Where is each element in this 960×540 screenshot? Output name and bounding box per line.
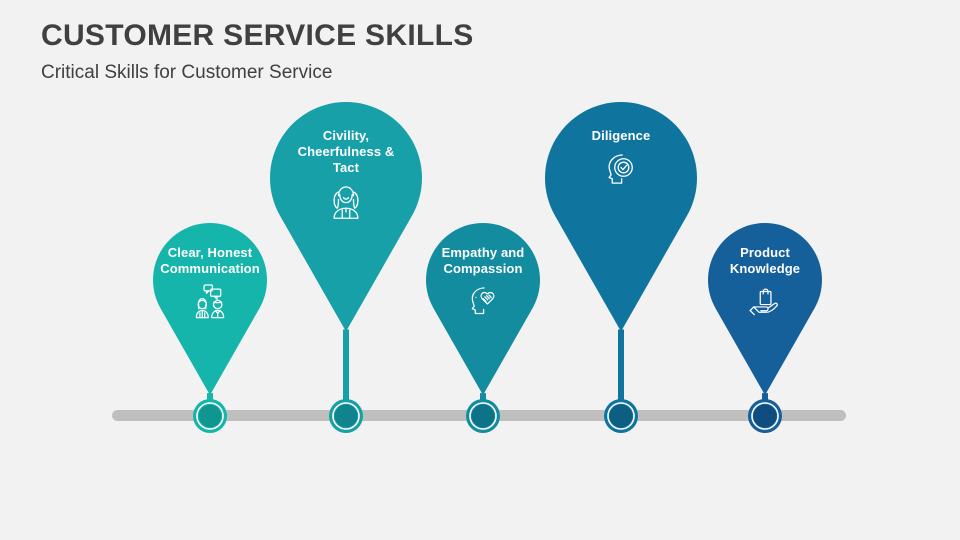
pin-balloon <box>708 223 822 395</box>
pin-marker-inner <box>754 405 777 428</box>
slide-canvas: CUSTOMER SERVICE SKILLS Critical Skills … <box>0 0 960 540</box>
pin-shape <box>0 0 960 540</box>
